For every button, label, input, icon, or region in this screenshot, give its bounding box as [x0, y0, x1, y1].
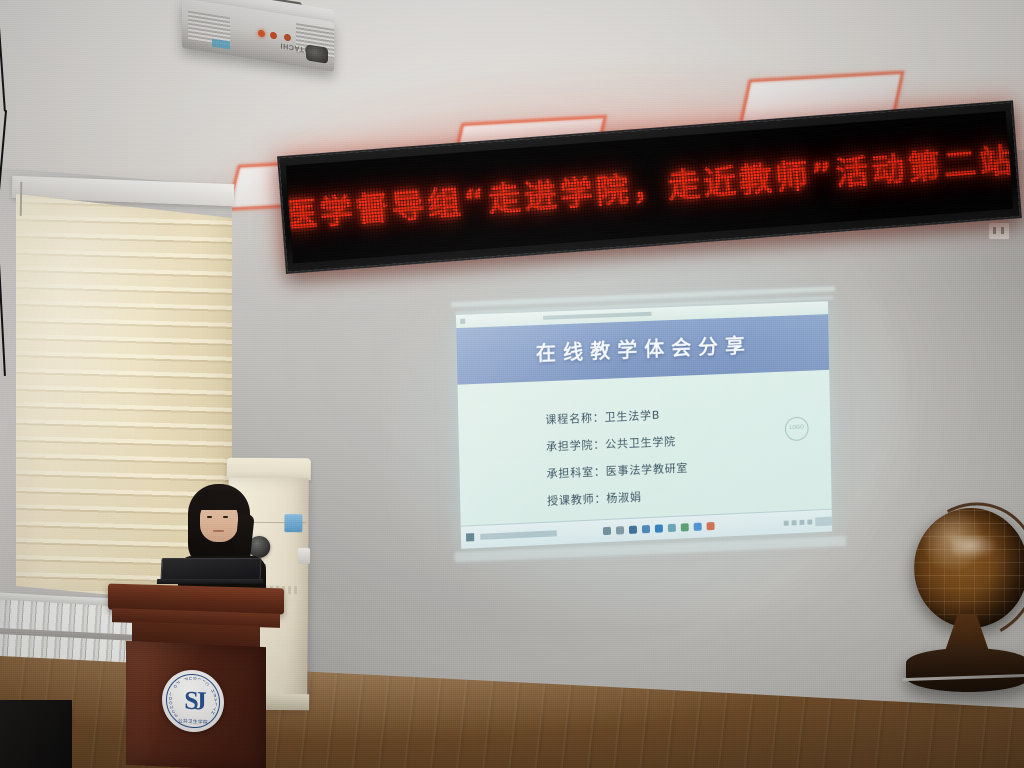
taskbar-icon[interactable]	[642, 525, 650, 533]
taskbar-clock[interactable]	[815, 516, 832, 526]
chrome-title-blur	[543, 312, 651, 320]
emblem-arc-char: H	[210, 710, 216, 716]
slide-watermark-logo: LOGO	[785, 416, 809, 441]
taskbar-icon[interactable]	[629, 526, 637, 534]
taskbar-icon[interactable]	[655, 524, 663, 532]
foreground-dark-object	[0, 700, 72, 768]
cable	[0, 0, 46, 111]
slide-body: 课程名称：卫生法学B 承担学院：公共卫生学院 承担科室：医事法学教研室 授课教师…	[458, 370, 832, 527]
emblem-english-arc: SCHOOL OF PUBLIC HEALTH	[162, 669, 224, 734]
tray-icon[interactable]	[799, 519, 804, 524]
taskbar-icon[interactable]	[707, 522, 715, 530]
lecture-hall-photo: HITACHI 医学督导组“走进学院，走近教师”活动第二站 在线教	[0, 0, 1024, 768]
slide-line-teacher: 授课教师：杨淑娟	[547, 486, 689, 508]
ceiling-projector: HITACHI	[176, 0, 346, 74]
taskbar-system-tray[interactable]	[784, 516, 832, 527]
taskbar-icon[interactable]	[681, 523, 689, 531]
taskbar-search-field[interactable]	[480, 530, 557, 540]
projector-status-led	[270, 31, 277, 39]
chrome-dot	[460, 319, 465, 324]
laptop-hinge	[157, 579, 263, 584]
slide-metadata-list: 课程名称：卫生法学B 承担学院：公共卫生学院 承担科室：医事法学教研室 授课教师…	[545, 405, 689, 508]
led-banner-text: 医学督导组“走进学院，走近教师”活动第二站	[286, 143, 1013, 232]
ac-energy-label	[284, 514, 302, 532]
taskbar-icon[interactable]	[668, 524, 676, 532]
slide-title: 在线教学体会分享	[536, 335, 752, 363]
presentation-slide: 在线教学体会分享 课程名称：卫生法学B 承担学院：公共卫生学院 承担科室：医事法…	[456, 301, 832, 549]
taskbar-icon[interactable]	[616, 526, 624, 534]
projection-area: 在线教学体会分享 课程名称：卫生法学B 承担学院：公共卫生学院 承担科室：医事法…	[415, 270, 887, 598]
slide-line-department: 承担科室：医事法学教研室	[546, 459, 688, 481]
presenter-mouth	[213, 530, 224, 532]
lectern-podium: SJ 公共卫生学院 SCHOOL OF PUBLIC HEALTH	[108, 586, 284, 768]
wall-power-outlet	[988, 222, 1010, 240]
laptop[interactable]	[157, 558, 263, 586]
taskbar-icon-group[interactable]	[603, 522, 715, 535]
emblem-arc-char: C	[204, 681, 210, 687]
emblem-arc-char: F	[175, 681, 181, 686]
presenter-fringe	[197, 490, 241, 510]
slide-line-college: 承担学院：公共卫生学院	[546, 432, 688, 454]
side-table	[906, 648, 1024, 692]
projector-status-led	[258, 29, 265, 37]
slide-line-course: 课程名称：卫生法学B	[545, 405, 687, 427]
presenter-eye	[207, 516, 212, 518]
taskbar-icon[interactable]	[603, 527, 611, 535]
tray-icon[interactable]	[792, 520, 797, 525]
taskbar-icon[interactable]	[694, 523, 702, 531]
power-plug	[298, 548, 310, 564]
projector-lens	[306, 44, 328, 63]
tray-icon[interactable]	[807, 519, 812, 524]
start-button-icon[interactable]	[466, 533, 474, 541]
projector-status-led	[284, 33, 291, 41]
tray-icon[interactable]	[784, 520, 789, 525]
school-emblem: SJ 公共卫生学院 SCHOOL OF PUBLIC HEALTH	[162, 669, 224, 734]
presenter-eye	[223, 516, 228, 518]
desk-globe	[908, 508, 1024, 708]
